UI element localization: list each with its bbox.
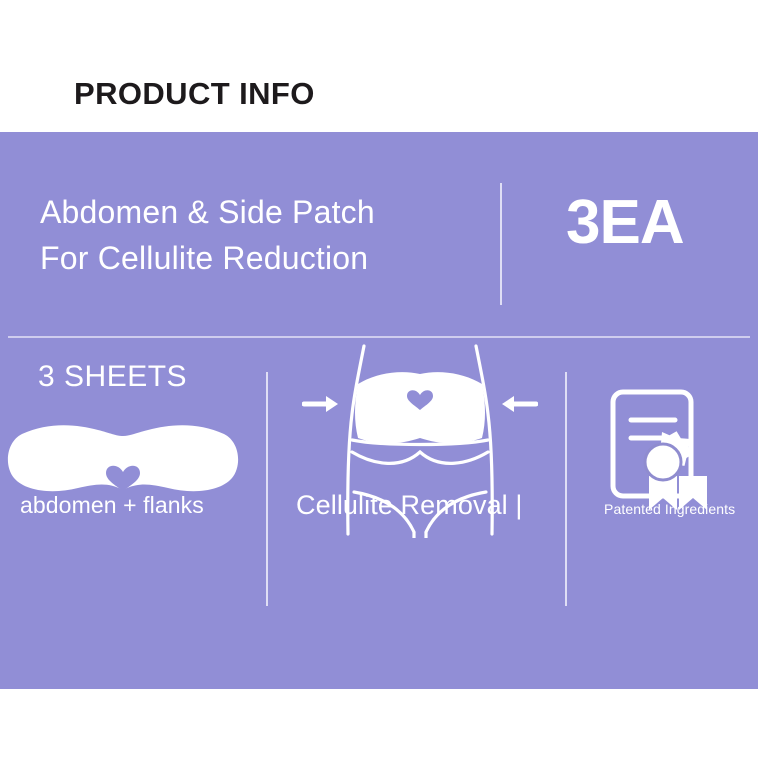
certificate-seal-icon <box>603 384 723 514</box>
product-name-line-2: For Cellulite Reduction <box>40 235 375 281</box>
arrow-left-icon <box>502 396 536 412</box>
product-info-panel: Abdomen & Side Patch For Cellulite Reduc… <box>0 132 758 689</box>
footer-spacer <box>0 689 758 758</box>
product-name-line-1: Abdomen & Side Patch <box>40 189 375 235</box>
product-summary-row: Abdomen & Side Patch For Cellulite Reduc… <box>0 132 758 336</box>
vertical-divider-top <box>500 183 502 305</box>
caption-patented-ingredients: Patented Ingredients <box>604 501 735 517</box>
sheets-count-label: 3 SHEETS <box>38 360 187 394</box>
quantity-badge: 3EA <box>566 188 684 258</box>
page-title: PRODUCT INFO <box>74 76 315 112</box>
arrow-right-icon <box>304 396 338 412</box>
product-info-page: PRODUCT INFO Abdomen & Side Patch For Ce… <box>0 0 758 758</box>
page-header: PRODUCT INFO <box>0 0 758 132</box>
caption-abdomen-flanks: abdomen + flanks <box>20 492 204 519</box>
caption-cellulite-removal: Cellulite Removal | <box>296 490 523 521</box>
product-name: Abdomen & Side Patch For Cellulite Reduc… <box>40 189 375 281</box>
